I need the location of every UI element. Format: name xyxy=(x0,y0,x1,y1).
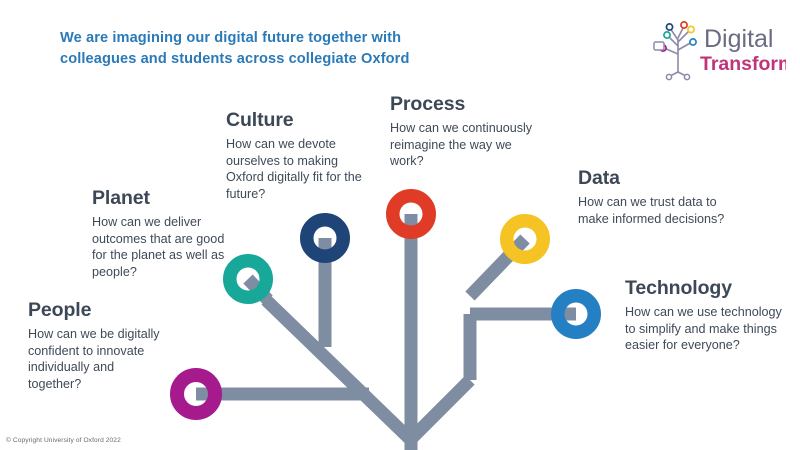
pillar-people: People How can we be digitally confident… xyxy=(28,300,170,393)
pillar-process-title: Process xyxy=(390,94,540,116)
pillar-planet-title: Planet xyxy=(92,188,228,210)
pillar-process-desc: How can we continuously reimagine the wa… xyxy=(390,120,540,170)
pillar-culture: Culture How can we devote ourselves to m… xyxy=(226,110,362,203)
pillar-process: Process How can we continuously reimagin… xyxy=(390,94,540,170)
pillar-planet: Planet How can we deliver outcomes that … xyxy=(92,188,228,281)
pillar-culture-title: Culture xyxy=(226,110,362,132)
pillar-people-desc: How can we be digitally confident to inn… xyxy=(28,326,170,393)
pillar-data: Data How can we trust data to make infor… xyxy=(578,168,738,227)
slide-canvas: We are imagining our digital future toge… xyxy=(0,0,800,450)
pillar-nodes xyxy=(177,196,594,413)
pillar-planet-desc: How can we deliver outcomes that are goo… xyxy=(92,214,228,281)
pillar-data-title: Data xyxy=(578,168,738,190)
pillar-technology: Technology How can we use technology to … xyxy=(625,278,783,354)
pillar-culture-desc: How can we devote ourselves to making Ox… xyxy=(226,136,362,203)
pillar-people-title: People xyxy=(28,300,170,322)
pillar-data-desc: How can we trust data to make informed d… xyxy=(578,194,738,227)
branch-left-diagonal xyxy=(266,300,415,444)
pillar-technology-desc: How can we use technology to simplify an… xyxy=(625,304,783,354)
copyright-footer: © Copyright University of Oxford 2022 xyxy=(6,437,121,444)
pillar-technology-title: Technology xyxy=(625,278,783,300)
